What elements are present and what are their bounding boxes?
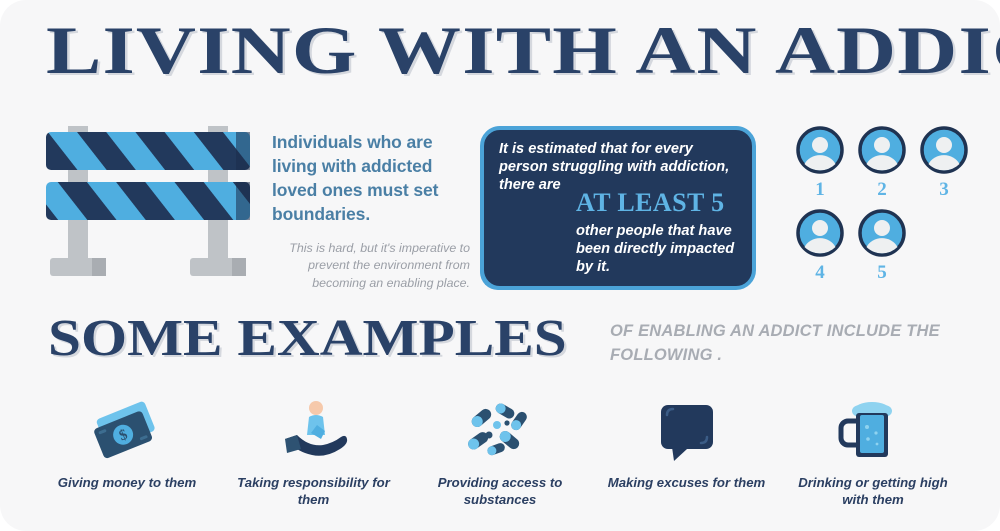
bubble-emphasis: AT LEAST 5 bbox=[576, 190, 742, 217]
bubble-emphasis-wrap: AT LEAST 5 bbox=[576, 190, 742, 217]
person-2: 2 bbox=[858, 126, 906, 201]
person-avatar-icon bbox=[858, 126, 906, 174]
pills-icon bbox=[461, 395, 539, 467]
bubble-tail-mask bbox=[484, 208, 572, 216]
examples-row: $ Giving money to them Taking respons bbox=[40, 395, 960, 509]
road-barricade-icon bbox=[40, 122, 266, 290]
person-1: 1 bbox=[796, 126, 844, 201]
examples-title: SOME EXAMPLES bbox=[48, 313, 567, 365]
person-avatar-icon bbox=[920, 126, 968, 174]
example-label: Giving money to them bbox=[58, 475, 196, 492]
speech-bubble-icon bbox=[648, 395, 726, 467]
hand-holding-person-icon bbox=[275, 395, 353, 467]
example-taking-responsibility: Taking responsibility for them bbox=[227, 395, 401, 509]
example-label: Making excuses for them bbox=[608, 475, 766, 492]
bubble-line-2: other people that have been directly imp… bbox=[576, 222, 742, 276]
person-number: 5 bbox=[858, 263, 906, 284]
person-number: 3 bbox=[920, 180, 968, 201]
person-avatar-icon bbox=[858, 209, 906, 257]
intro-subtext: This is hard, but it's imperative to pre… bbox=[272, 240, 470, 292]
example-making-excuses: Making excuses for them bbox=[600, 395, 774, 509]
example-providing-access: Providing access to substances bbox=[413, 395, 587, 509]
beer-mug-icon bbox=[834, 395, 912, 467]
person-5: 5 bbox=[858, 209, 906, 284]
example-label: Taking responsibility for them bbox=[227, 475, 401, 509]
people-row-top: 1 2 3 bbox=[796, 126, 976, 201]
example-label: Drinking or getting high with them bbox=[786, 475, 960, 509]
person-number: 2 bbox=[858, 180, 906, 201]
person-avatar-icon bbox=[796, 209, 844, 257]
person-number: 1 bbox=[796, 180, 844, 201]
example-drinking: Drinking or getting high with them bbox=[786, 395, 960, 509]
people-row-bottom: 4 5 bbox=[796, 209, 976, 284]
person-avatar-icon bbox=[796, 126, 844, 174]
example-giving-money: $ Giving money to them bbox=[40, 395, 214, 509]
bubble-line-1: It is estimated that for every person st… bbox=[499, 140, 741, 194]
person-4: 4 bbox=[796, 209, 844, 284]
example-label: Providing access to substances bbox=[413, 475, 587, 509]
money-icon: $ bbox=[88, 395, 166, 467]
statistic-callout-bubble: It is estimated that for every person st… bbox=[480, 126, 756, 290]
infographic-poster: LIVING WITH AN ADDICT Individua bbox=[0, 0, 1000, 531]
examples-subtitle: OF ENABLING AN ADDICT INCLUDE THE FOLLOW… bbox=[610, 320, 970, 368]
intro-block: Individuals who are living with addicted… bbox=[272, 131, 470, 292]
person-3: 3 bbox=[920, 126, 968, 201]
person-number: 4 bbox=[796, 263, 844, 284]
intro-headline: Individuals who are living with addicted… bbox=[272, 131, 470, 227]
affected-people-group: 1 2 3 bbox=[796, 126, 976, 292]
page-title: LIVING WITH AN ADDICT bbox=[46, 16, 1000, 85]
